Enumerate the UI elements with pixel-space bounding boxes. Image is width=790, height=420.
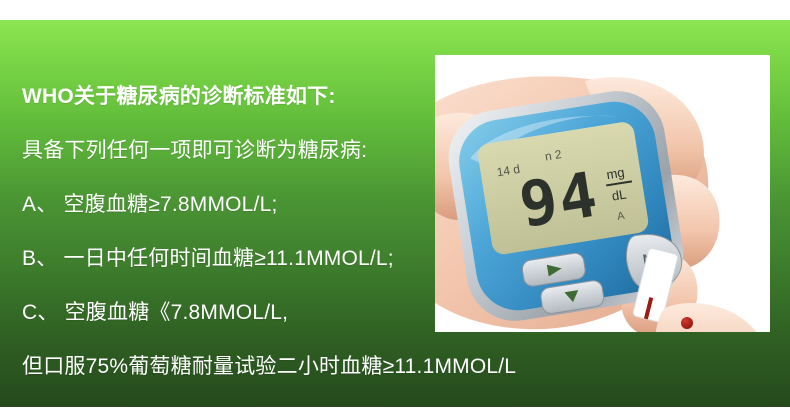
text-line-item-b: B、 一日中任何时间血糖≥11.1MMOL/L; [22, 232, 762, 286]
text-line-item-c: C、 空腹血糖《7.8MMOL/L, [22, 286, 762, 340]
text-line-item-a: A、 空腹血糖≥7.8MMOL/L; [22, 178, 762, 232]
text-line-item-c-continued: 但口服75%葡萄糖耐量试验二小时血糖≥11.1MMOL/L [22, 340, 762, 394]
criteria-text-block: WHO关于糖尿病的诊断标准如下: 具备下列任何一项即可诊断为糖尿病: A、 空腹… [22, 70, 762, 394]
text-line-heading: WHO关于糖尿病的诊断标准如下: [22, 70, 762, 124]
text-line-subheading: 具备下列任何一项即可诊断为糖尿病: [22, 124, 762, 178]
diabetes-criteria-banner: 14 d n 2 94 mg dL A M [0, 0, 790, 420]
